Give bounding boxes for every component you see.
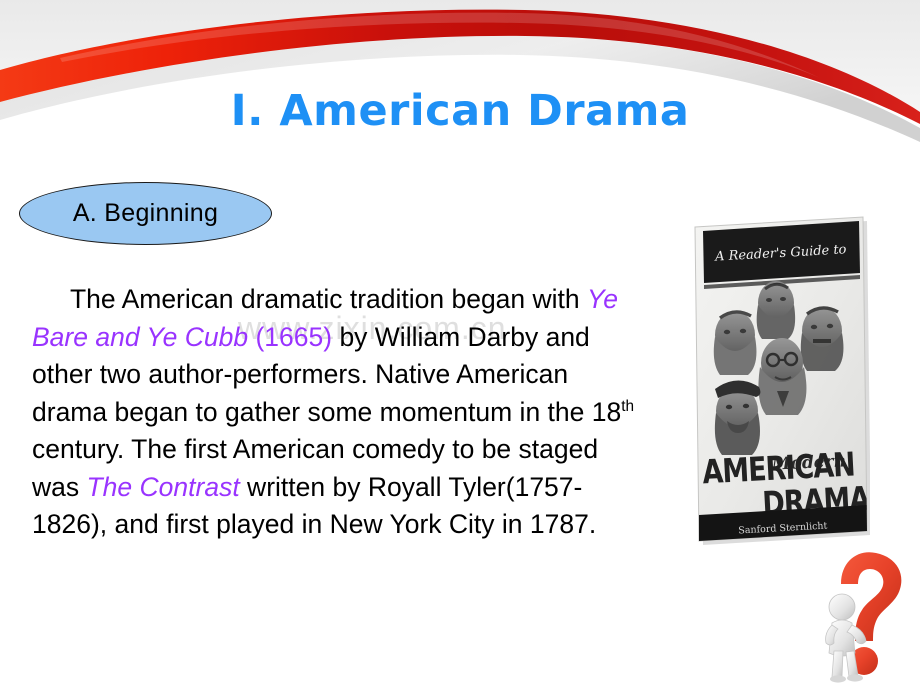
slide-canvas: I. American Drama A. Beginning www.zixin… <box>0 0 920 690</box>
body-ordinal-suffix: th <box>621 398 634 415</box>
section-callout-oval: A. Beginning <box>19 182 272 245</box>
book-cover-image: A Reader's Guide to <box>689 215 870 545</box>
body-work-date-1: (1665) <box>255 322 332 352</box>
page-title: I. American Drama <box>0 86 920 136</box>
question-mark-svg <box>808 545 912 685</box>
question-mark-graphic <box>808 545 912 685</box>
swoosh-highlight <box>60 13 820 78</box>
portrait-face-left <box>714 311 757 375</box>
portrait-face-center <box>758 338 806 415</box>
book-cover-graphic: A Reader's Guide to <box>689 215 870 545</box>
section-callout-label: A. Beginning <box>73 199 218 228</box>
portrait-face-bottom-left <box>715 380 761 455</box>
portrait-face-top <box>757 281 795 339</box>
body-segment-1: The American dramatic tradition began wi… <box>70 284 587 314</box>
body-work-title-2: The Contrast <box>87 472 240 502</box>
body-paragraph: The American dramatic tradition began wi… <box>32 281 640 544</box>
portrait-face-right <box>801 307 844 371</box>
